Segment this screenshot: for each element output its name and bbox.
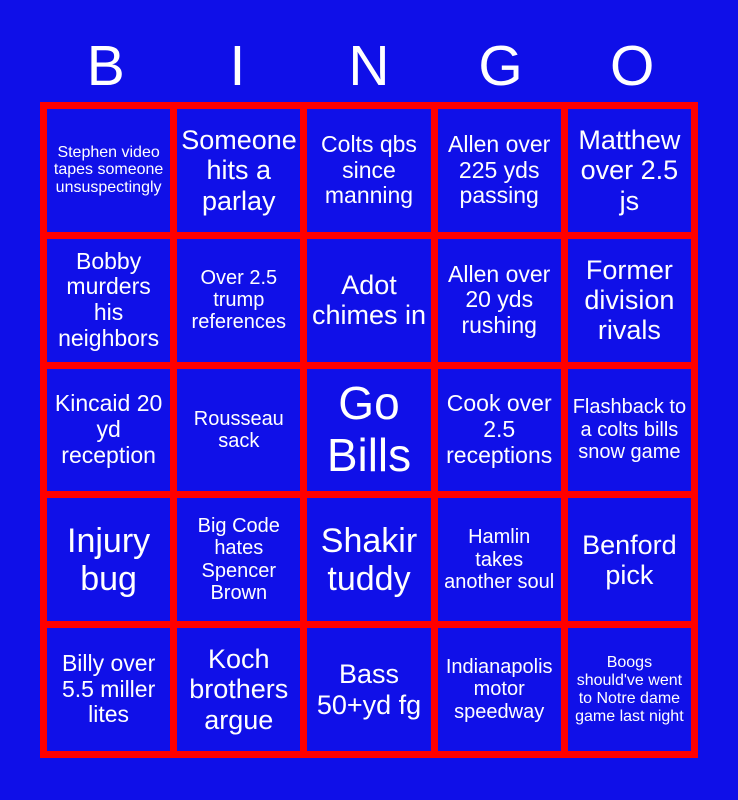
bingo-cell-text: Rousseau sack xyxy=(181,408,296,453)
bingo-cell-text: Kincaid 20 yd reception xyxy=(51,391,166,468)
bingo-cell-r3c4[interactable]: Cook over 2.5 receptions xyxy=(438,369,561,492)
bingo-cell-text: Stephen video tapes someone unsuspecting… xyxy=(51,144,166,198)
header-letter-n: N xyxy=(303,38,435,95)
bingo-cell-text: Someone hits a parlay xyxy=(181,125,296,216)
bingo-cell-text: Over 2.5 trump references xyxy=(181,267,296,334)
bingo-grid: Stephen video tapes someone unsuspecting… xyxy=(40,102,698,758)
bingo-cell-r1c3[interactable]: Colts qbs since manning xyxy=(307,109,430,232)
bingo-cell-r3c1[interactable]: Kincaid 20 yd reception xyxy=(47,369,170,492)
bingo-cell-r2c2[interactable]: Over 2.5 trump references xyxy=(177,239,300,362)
bingo-cell-text: Billy over 5.5 miller lites xyxy=(51,651,166,728)
bingo-cell-text: Flashback to a colts bills snow game xyxy=(572,396,687,463)
header-letter-b: B xyxy=(40,38,172,95)
header-letter-i: I xyxy=(172,38,304,95)
bingo-cell-r1c1[interactable]: Stephen video tapes someone unsuspecting… xyxy=(47,109,170,232)
bingo-cell-r4c5[interactable]: Benford pick xyxy=(568,498,691,621)
bingo-cell-text: Allen over 225 yds passing xyxy=(442,132,557,209)
bingo-cell-r2c3[interactable]: Adot chimes in xyxy=(307,239,430,362)
bingo-cell-text: Injury bug xyxy=(51,522,166,598)
bingo-header: B I N G O xyxy=(40,30,698,102)
bingo-cell-r2c4[interactable]: Allen over 20 yds rushing xyxy=(438,239,561,362)
bingo-cell-text: Former division rivals xyxy=(572,255,687,346)
bingo-cell-r1c4[interactable]: Allen over 225 yds passing xyxy=(438,109,561,232)
header-letter-o: O xyxy=(566,38,698,95)
bingo-cell-r5c4[interactable]: Indianapolis motor speedway xyxy=(438,628,561,751)
bingo-cell-r4c1[interactable]: Injury bug xyxy=(47,498,170,621)
bingo-cell-text: Cook over 2.5 receptions xyxy=(442,391,557,468)
bingo-cell-r2c5[interactable]: Former division rivals xyxy=(568,239,691,362)
bingo-cell-text: Koch brothers argue xyxy=(181,644,296,735)
bingo-cell-text: Allen over 20 yds rushing xyxy=(442,262,557,339)
header-letter-g: G xyxy=(435,38,567,95)
bingo-cell-r5c3[interactable]: Bass 50+yd fg xyxy=(307,628,430,751)
bingo-cell-text: Adot chimes in xyxy=(311,270,426,330)
bingo-cell-text: Bass 50+yd fg xyxy=(311,659,426,719)
bingo-cell-r3c5[interactable]: Flashback to a colts bills snow game xyxy=(568,369,691,492)
bingo-cell-free-space[interactable]: Go Bills xyxy=(307,369,430,492)
bingo-cell-text: Boogs should've went to Notre dame game … xyxy=(572,654,687,726)
bingo-cell-text: Colts qbs since manning xyxy=(311,132,426,209)
bingo-cell-r4c3[interactable]: Shakir tuddy xyxy=(307,498,430,621)
bingo-cell-r1c5[interactable]: Matthew over 2.5 js xyxy=(568,109,691,232)
bingo-cell-text: Big Code hates Spencer Brown xyxy=(181,515,296,605)
bingo-cell-text: Matthew over 2.5 js xyxy=(572,125,687,216)
bingo-cell-text: Benford pick xyxy=(572,530,687,590)
bingo-cell-text: Hamlin takes another soul xyxy=(442,526,557,593)
bingo-cell-r2c1[interactable]: Bobby murders his neighbors xyxy=(47,239,170,362)
bingo-cell-text: Shakir tuddy xyxy=(311,522,426,598)
bingo-cell-r5c1[interactable]: Billy over 5.5 miller lites xyxy=(47,628,170,751)
bingo-cell-r4c2[interactable]: Big Code hates Spencer Brown xyxy=(177,498,300,621)
bingo-cell-text: Indianapolis motor speedway xyxy=(442,656,557,723)
bingo-cell-r3c2[interactable]: Rousseau sack xyxy=(177,369,300,492)
bingo-card: B I N G O Stephen video tapes someone un… xyxy=(0,0,738,800)
bingo-cell-text: Bobby murders his neighbors xyxy=(51,249,166,352)
bingo-cell-r4c4[interactable]: Hamlin takes another soul xyxy=(438,498,561,621)
bingo-cell-text: Go Bills xyxy=(311,378,426,481)
bingo-cell-r1c2[interactable]: Someone hits a parlay xyxy=(177,109,300,232)
bingo-cell-r5c2[interactable]: Koch brothers argue xyxy=(177,628,300,751)
bingo-cell-r5c5[interactable]: Boogs should've went to Notre dame game … xyxy=(568,628,691,751)
